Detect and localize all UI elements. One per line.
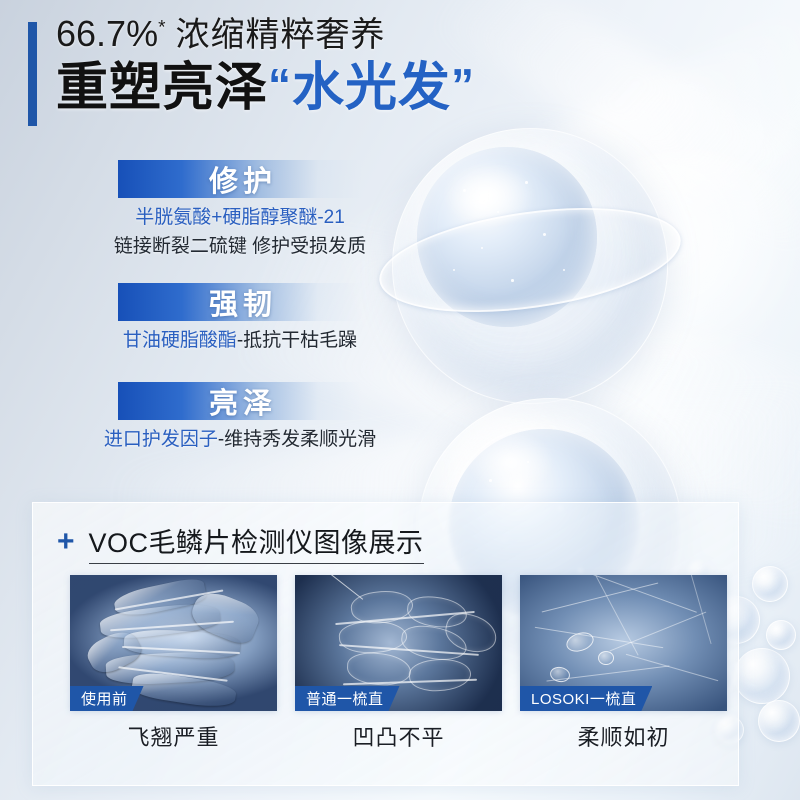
headline-line-1-text: 浓缩精粹奢养	[175, 16, 385, 54]
bubble	[758, 700, 800, 742]
feature-description: 进口护发因子-维持秀发柔顺光滑	[0, 426, 480, 455]
asterisk-mark: *	[158, 18, 166, 39]
micrograph-panel-group: 使用前 飞翘严重	[70, 575, 727, 752]
bubble	[752, 566, 788, 602]
feature-description: 甘油硬脂酸酯-抵抗干枯毛躁	[0, 327, 480, 356]
feature-tag-banner: 强韧	[118, 283, 362, 321]
voc-comparison-card: + VOC毛鳞片检测仪图像展示	[32, 502, 739, 786]
panel-badge: 普通一梳直	[295, 686, 400, 711]
headline-line-2: 重塑亮泽“水光发”	[56, 62, 475, 115]
feature-ingredient: 进口护发因子	[104, 429, 218, 450]
feature-item-repair: 修护 半胱氨酸+硬脂醇聚醚-21 链接断裂二硫键 修护受损发质	[0, 160, 480, 261]
panel-caption: 凹凸不平	[295, 720, 502, 752]
micrograph-panel: 普通一梳直 凹凸不平	[295, 575, 502, 752]
feature-tag-banner: 亮泽	[118, 382, 362, 420]
feature-tag-label: 亮泽	[203, 380, 277, 422]
micrograph-panel: LOSOKI一梳直 柔顺如初	[520, 575, 727, 752]
feature-item-strength: 强韧 甘油硬脂酸酯-抵抗干枯毛躁	[0, 283, 480, 356]
feature-benefit: -抵抗干枯毛躁	[237, 330, 357, 351]
voc-card-header: + VOC毛鳞片检测仪图像展示	[57, 521, 424, 564]
headline-main-text: 重塑亮泽	[56, 59, 268, 117]
headline-highlight: 水光发	[292, 59, 451, 117]
feature-tag-banner: 修护	[118, 160, 362, 198]
accent-bar	[28, 22, 37, 126]
micrograph-image-ordinary: 普通一梳直	[295, 575, 502, 711]
feature-benefit: 链接断裂二硫键 修护受损发质	[0, 233, 480, 262]
panel-badge: LOSOKI一梳直	[520, 686, 652, 711]
feature-item-shine: 亮泽 进口护发因子-维持秀发柔顺光滑	[0, 382, 480, 455]
panel-caption: 柔顺如初	[520, 720, 727, 752]
feature-list: 修护 半胱氨酸+硬脂醇聚醚-21 链接断裂二硫键 修护受损发质 强韧 甘油硬脂酸…	[0, 160, 480, 470]
bubble	[734, 648, 790, 704]
feature-ingredient: 甘油硬脂酸酯	[123, 330, 237, 351]
headline-line-1: 66.7%*浓缩精粹奢养	[56, 16, 475, 52]
feature-ingredient: 半胱氨酸+硬脂醇聚醚-21	[0, 204, 480, 233]
product-marketing-poster: 66.7%*浓缩精粹奢养 重塑亮泽“水光发” 修护 半胱氨酸+硬脂醇聚醚-21 …	[0, 0, 800, 800]
panel-caption: 飞翘严重	[70, 720, 277, 752]
micrograph-panel: 使用前 飞翘严重	[70, 575, 277, 752]
micrograph-image-before: 使用前	[70, 575, 277, 711]
quote-open: “	[268, 62, 292, 109]
glow	[560, 150, 800, 390]
voc-card-title: VOC毛鳞片检测仪图像展示	[89, 521, 424, 564]
feature-tag-label: 强韧	[203, 281, 277, 323]
panel-badge: 使用前	[70, 686, 144, 711]
percent-value: 66.7%	[56, 13, 158, 54]
bubble	[766, 620, 796, 650]
quote-close: ”	[451, 62, 475, 109]
feature-tag-label: 修护	[203, 158, 277, 200]
plus-icon: +	[57, 527, 75, 557]
micrograph-image-losoki: LOSOKI一梳直	[520, 575, 727, 711]
feature-benefit: -维持秀发柔顺光滑	[218, 429, 376, 450]
light-sheen	[439, 0, 800, 257]
headline-block: 66.7%*浓缩精粹奢养 重塑亮泽“水光发”	[28, 16, 475, 115]
